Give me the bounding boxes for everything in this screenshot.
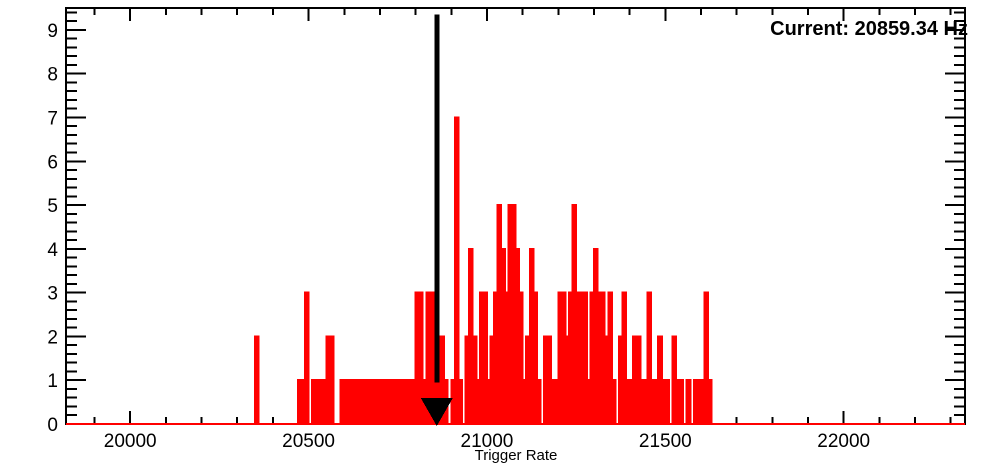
x-axis-title: Trigger Rate [475, 447, 558, 464]
x-tick-label: 21500 [639, 431, 692, 452]
x-tick-label: 22000 [817, 431, 870, 452]
y-tick-label: 6 [47, 152, 58, 173]
y-tick-label: 9 [47, 21, 58, 42]
y-tick-label: 3 [47, 284, 58, 305]
x-tick-label: 20500 [282, 431, 335, 452]
chart-canvas: 0123456789 2000020500210002150022000 Tri… [0, 0, 996, 472]
y-tick-label: 4 [47, 240, 58, 261]
y-axis-tick-labels: 0123456789 [47, 21, 58, 436]
y-tick-label: 8 [47, 65, 58, 86]
histogram-plot: 0123456789 2000020500210002150022000 Tri… [0, 0, 996, 472]
y-tick-label: 5 [47, 196, 58, 217]
current-rate-status: Current: 20859.34 Hz [770, 18, 968, 41]
y-tick-label: 2 [47, 327, 58, 348]
y-tick-label: 1 [47, 371, 58, 392]
y-tick-label: 7 [47, 108, 58, 129]
x-tick-label: 20000 [104, 431, 157, 452]
y-tick-label: 0 [47, 415, 58, 436]
